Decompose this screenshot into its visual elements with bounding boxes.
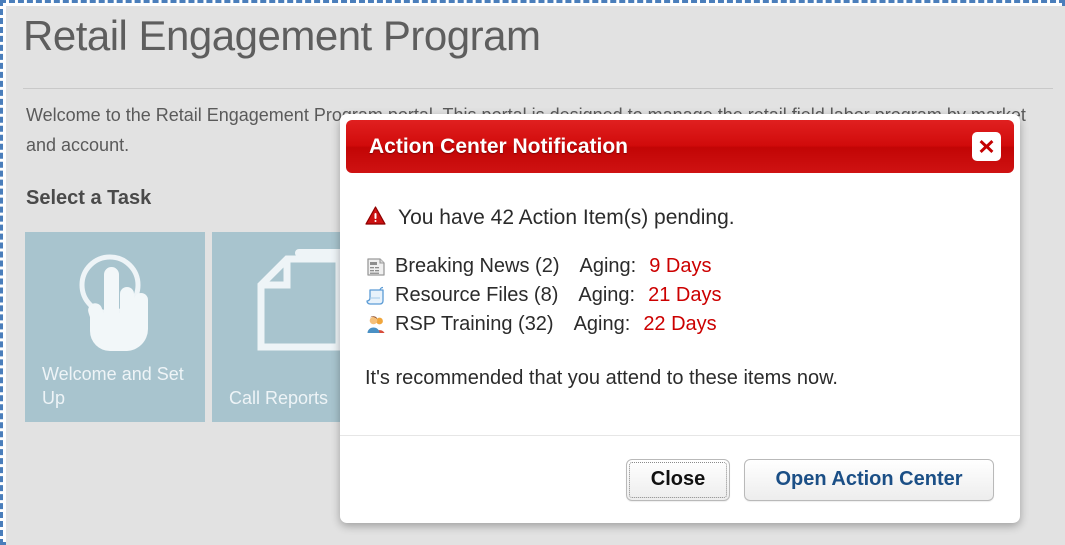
task-tile-list: Welcome and Set Up Call Reports [25, 232, 392, 422]
action-item-row[interactable]: Breaking News (2) Aging: 9 Days [365, 252, 996, 281]
action-item-aging-label: Aging: [578, 284, 635, 307]
recommendation-text: It's recommended that you attend to thes… [365, 367, 996, 390]
scroll-file-icon [365, 285, 387, 307]
title-divider [23, 88, 1053, 89]
dialog-footer: Close Open Action Center [340, 435, 1020, 523]
warning-triangle-icon [365, 206, 386, 230]
action-item-name: Resource Files (8) [395, 284, 558, 307]
page-title: Retail Engagement Program [23, 12, 540, 60]
close-x-icon[interactable] [972, 132, 1001, 161]
portal-page: Retail Engagement Program Welcome to the… [6, 6, 1065, 545]
pending-summary-text: You have 42 Action Item(s) pending. [398, 206, 735, 230]
hand-pointer-icon [25, 240, 205, 365]
action-center-notification-dialog: Action Center Notification [340, 114, 1020, 523]
page-border-frame: Retail Engagement Program Welcome to the… [0, 0, 1065, 545]
action-item-row[interactable]: RSP Training (32) Aging: 22 Days [365, 310, 996, 339]
action-item-aging-value: 21 Days [648, 284, 721, 307]
action-item-row[interactable]: Resource Files (8) Aging: 21 Days [365, 281, 996, 310]
task-tile-label: Welcome and Set Up [42, 362, 202, 410]
pending-summary-row: You have 42 Action Item(s) pending. [365, 206, 996, 230]
newspaper-icon [365, 256, 387, 278]
dialog-title: Action Center Notification [369, 135, 628, 159]
action-item-aging-value: 9 Days [649, 255, 711, 278]
action-item-aging-label: Aging: [574, 313, 631, 336]
action-item-name: RSP Training (32) [395, 313, 554, 336]
close-button[interactable]: Close [626, 459, 730, 501]
people-group-icon [365, 314, 387, 336]
dialog-header: Action Center Notification [346, 120, 1014, 173]
select-task-heading: Select a Task [26, 187, 151, 210]
open-action-center-button[interactable]: Open Action Center [744, 459, 994, 501]
task-tile-welcome-and-set-up[interactable]: Welcome and Set Up [25, 232, 205, 422]
action-item-list: Breaking News (2) Aging: 9 Days Re [365, 252, 996, 339]
action-item-aging-value: 22 Days [643, 313, 716, 336]
action-item-aging-label: Aging: [580, 255, 637, 278]
action-item-name: Breaking News (2) [395, 255, 560, 278]
dialog-body: You have 42 Action Item(s) pending. [340, 180, 1020, 435]
